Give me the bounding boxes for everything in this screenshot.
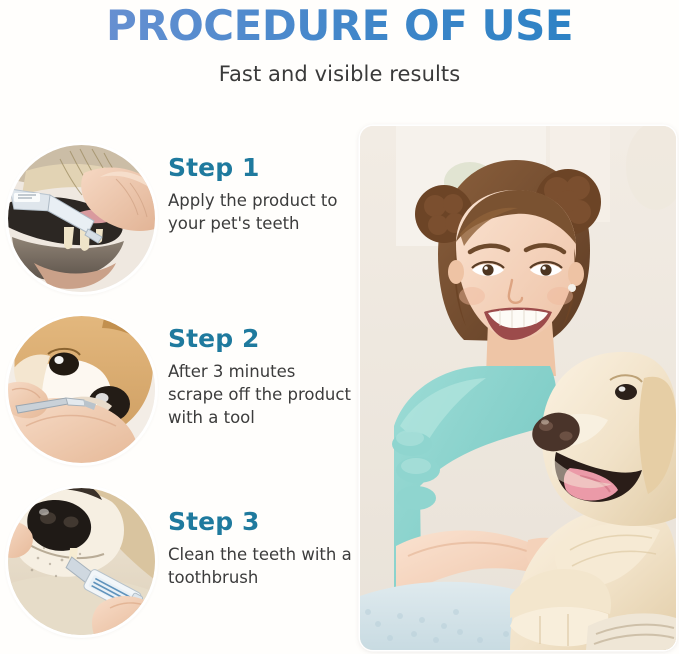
step-1-thumbnail — [8, 145, 155, 292]
step-item: Step 1 Apply the product to your pet's t… — [0, 131, 352, 305]
step-3-thumbnail — [8, 488, 155, 635]
page-subtitle: Fast and visible results — [0, 51, 679, 86]
step-2-thumbnail — [8, 316, 155, 463]
step-item: Step 2 After 3 minutes scrape off the pr… — [0, 305, 352, 479]
step-item: Step 3 Clean the teeth with a toothbrush — [0, 479, 352, 653]
header: PROCEDURE OF USE Fast and visible result… — [0, 0, 679, 86]
step-2-text: Step 2 After 3 minutes scrape off the pr… — [168, 324, 352, 429]
step-3-title: Step 3 — [168, 507, 352, 537]
procedure-of-use-infographic: PROCEDURE OF USE Fast and visible result… — [0, 0, 679, 654]
step-1-description: Apply the product to your pet's teeth — [168, 183, 352, 235]
step-3-description: Clean the teeth with a toothbrush — [168, 537, 352, 589]
step-2-title: Step 2 — [168, 324, 352, 354]
step-2-description: After 3 minutes scrape off the product w… — [168, 354, 352, 429]
step-1-title: Step 1 — [168, 153, 352, 183]
step-1-text: Step 1 Apply the product to your pet's t… — [168, 153, 352, 235]
page-title: PROCEDURE OF USE — [0, 0, 679, 51]
steps-list: Step 1 Apply the product to your pet's t… — [0, 131, 352, 653]
hero-photo — [360, 126, 676, 650]
step-3-text: Step 3 Clean the teeth with a toothbrush — [168, 507, 352, 589]
